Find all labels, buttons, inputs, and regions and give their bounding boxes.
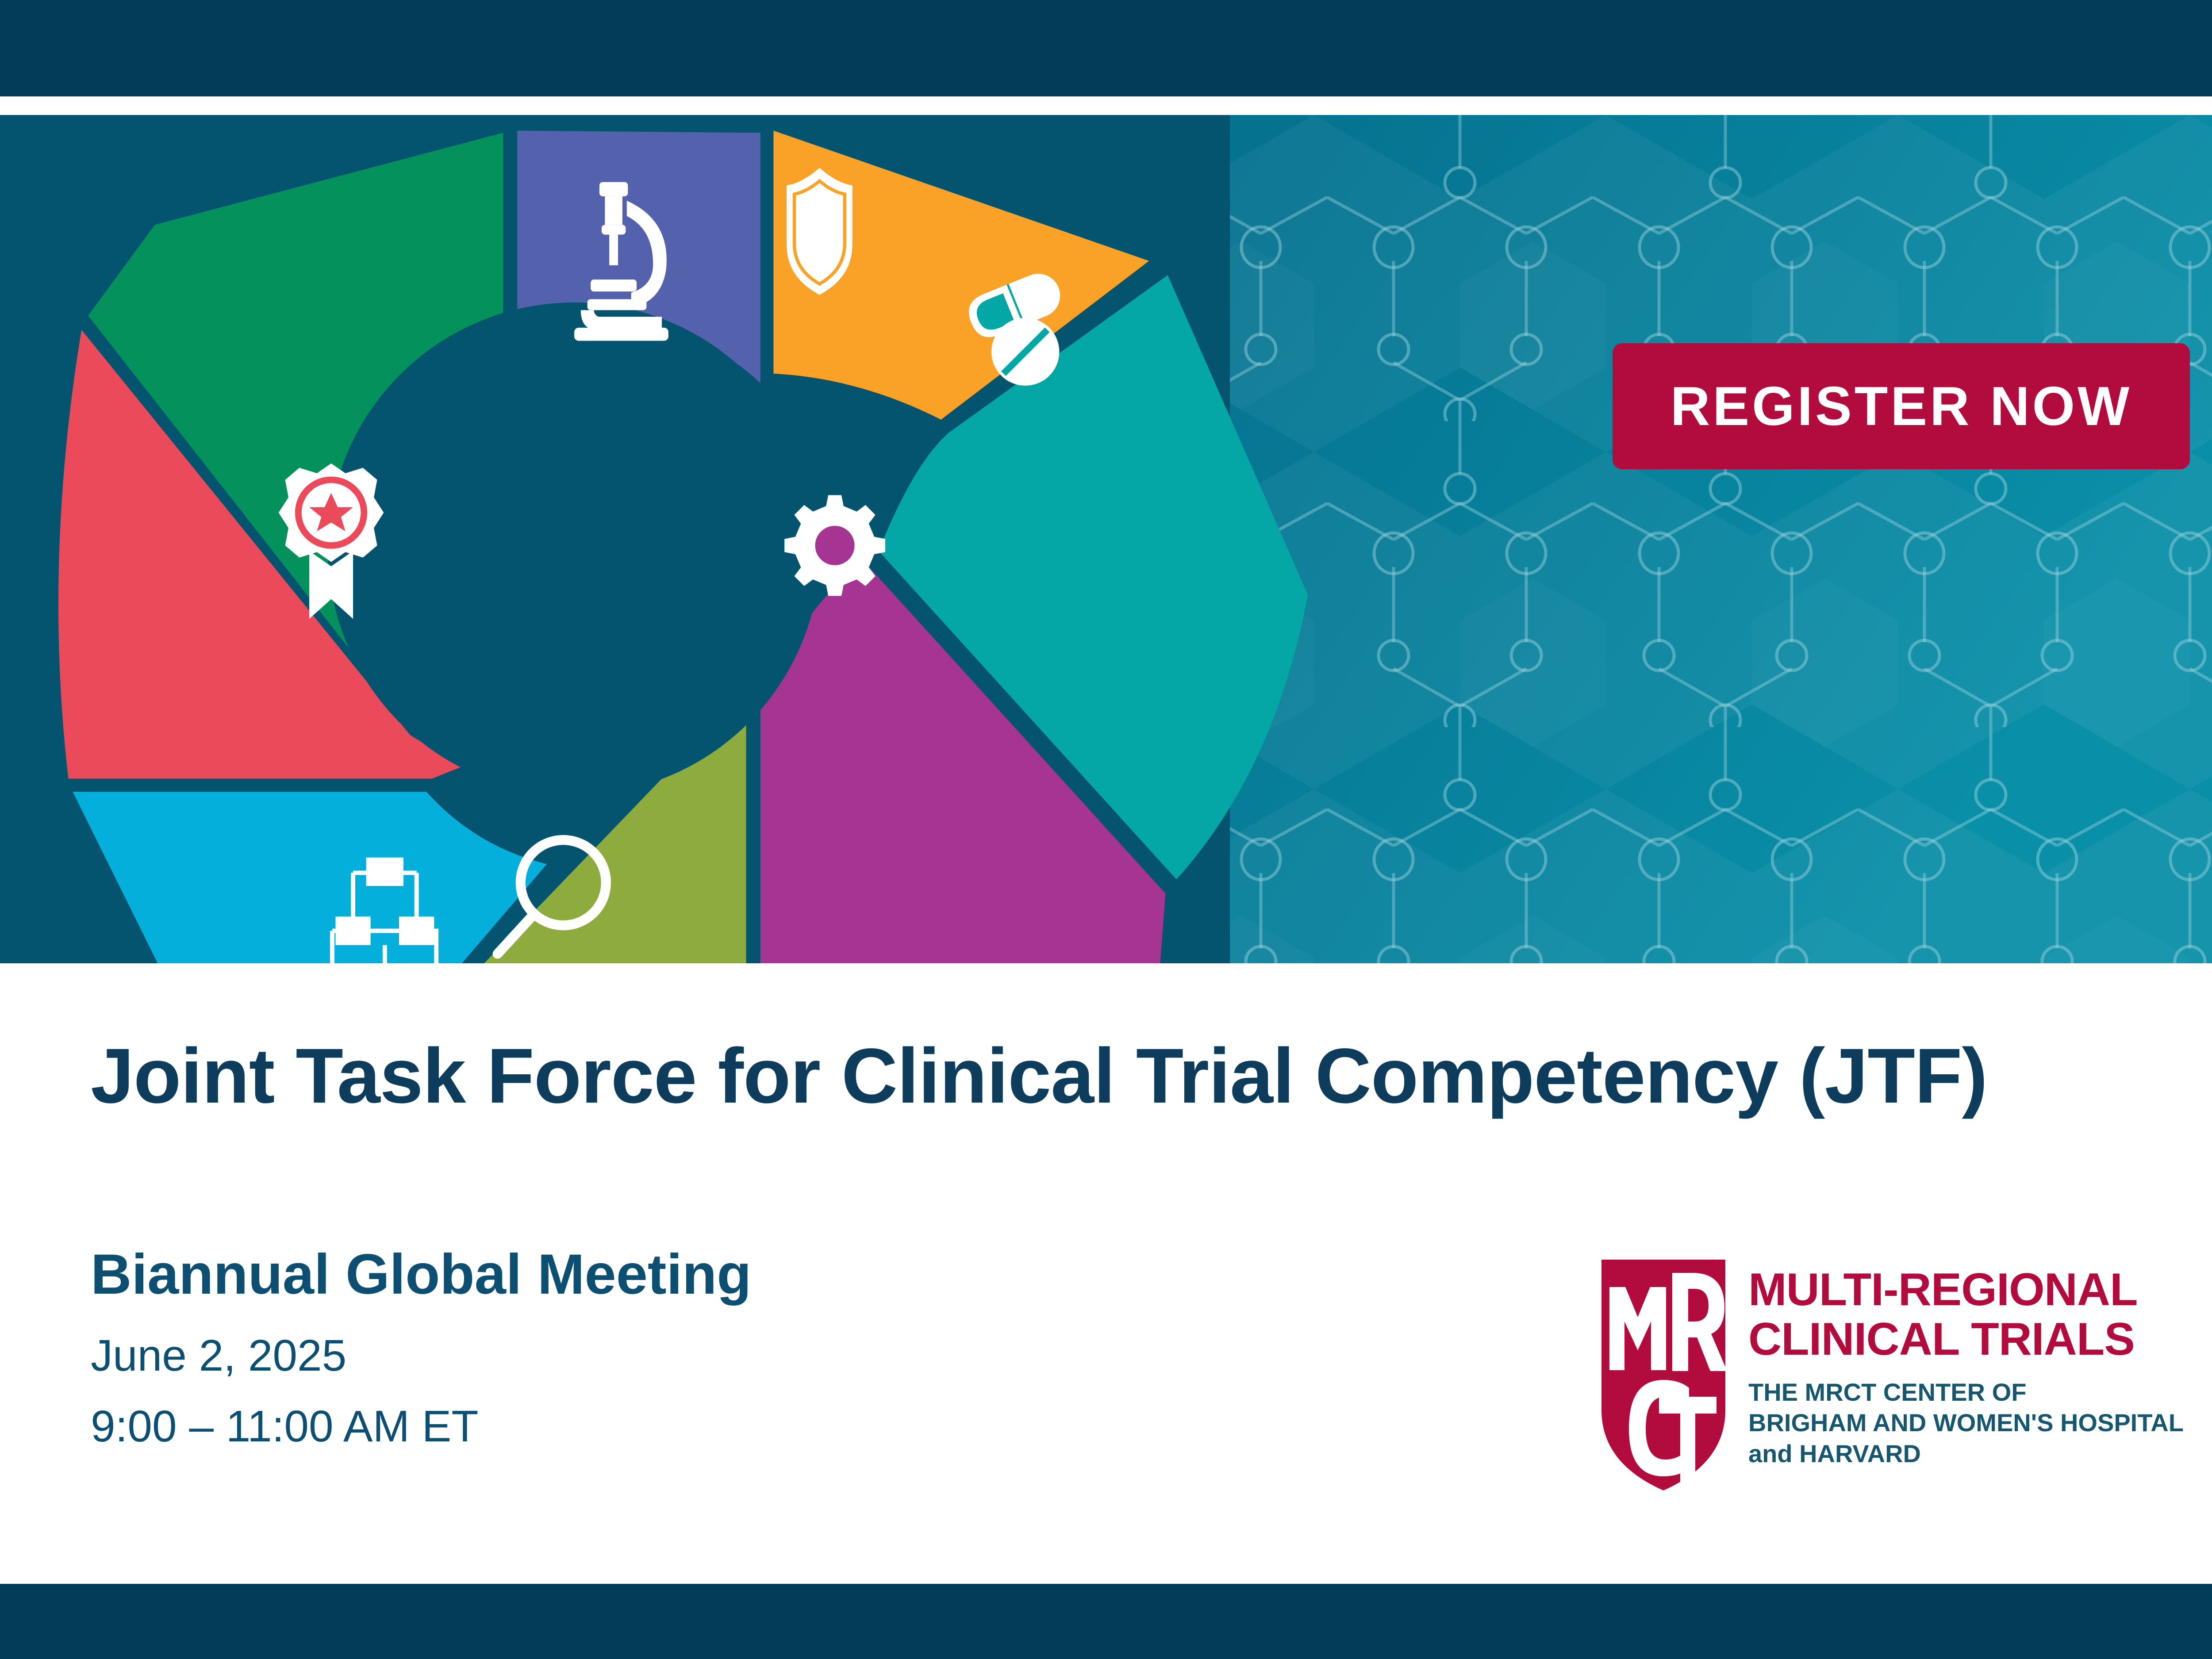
mrct-name-line1: MULTI-REGIONAL (1748, 1265, 2184, 1314)
aperture-iris-diagram (49, 115, 1363, 963)
top-white-divider (0, 96, 2212, 115)
register-now-button[interactable]: REGISTER NOW (1613, 343, 2190, 469)
gear-icon (784, 495, 885, 596)
shield-icon (787, 168, 853, 295)
mrct-affiliation-line3: and HARVARD (1748, 1438, 2184, 1469)
mrct-shield-logo-icon (1597, 1255, 1730, 1494)
register-now-label: REGISTER NOW (1671, 375, 2132, 438)
mrct-affiliation-line2: BRIGHAM AND WOMEN'S HOSPITAL (1748, 1407, 2184, 1438)
top-navy-bar (0, 0, 2212, 96)
bottom-navy-bar (0, 1584, 2212, 1659)
hero-graphic-region: REGISTER NOW (0, 115, 2212, 963)
event-date: June 2, 2025 (91, 1330, 346, 1381)
event-subtitle: Biannual Global Meeting (91, 1242, 751, 1307)
aperture-blade-lightblue (73, 792, 547, 963)
page-title: Joint Task Force for Clinical Trial Comp… (91, 1031, 1987, 1121)
mrct-name-line2: CLINICAL TRIALS (1748, 1314, 2184, 1364)
mrct-affiliation-line1: THE MRCT CENTER OF (1748, 1377, 2184, 1407)
mrct-affiliation: THE MRCT CENTER OF BRIGHAM AND WOMEN'S H… (1748, 1377, 2184, 1469)
mrct-logo: MULTI-REGIONAL CLINICAL TRIALS THE MRCT … (1597, 1255, 2212, 1516)
event-banner: REGISTER NOW Joint Task Force for Clinic… (0, 0, 2212, 1659)
content-area: Joint Task Force for Clinical Trial Comp… (0, 963, 2212, 1584)
mrct-logo-text: MULTI-REGIONAL CLINICAL TRIALS THE MRCT … (1748, 1255, 2184, 1469)
event-time: 9:00 – 11:00 AM ET (91, 1401, 478, 1452)
